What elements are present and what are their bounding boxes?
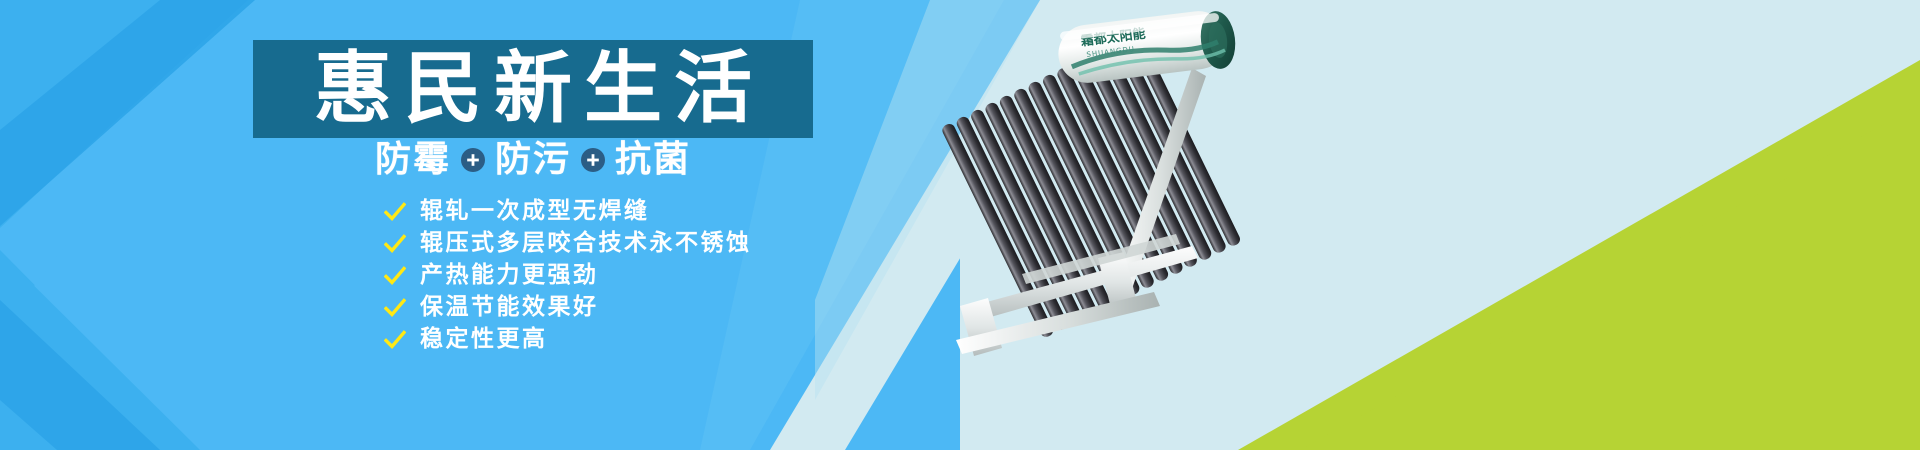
plus-icon (581, 148, 605, 172)
feature-label: 辊压式多层咬合技术永不锈蚀 (420, 232, 752, 255)
water-tank: 霜都太阳能 SHUANGDU (1055, 8, 1238, 86)
solar-water-heater-image: 霜都太阳能 SHUANGDU (930, 6, 1290, 366)
subtitle-row: 防霉 防污 抗菌 (253, 142, 813, 178)
subtitle-word-2: 防污 (495, 142, 571, 178)
subtitle-word-1: 防霉 (375, 142, 451, 178)
check-icon (384, 265, 406, 287)
feature-list: 辊轧一次成型无焊缝 辊压式多层咬合技术永不锈蚀 产热能力更强劲 (384, 196, 752, 356)
plus-icon (461, 148, 485, 172)
list-item: 产热能力更强劲 (384, 260, 752, 291)
feature-label: 辊轧一次成型无焊缝 (420, 200, 650, 223)
feature-label: 稳定性更高 (420, 328, 548, 351)
list-item: 辊轧一次成型无焊缝 (384, 196, 752, 227)
feature-label: 保温节能效果好 (420, 296, 599, 319)
check-icon (384, 201, 406, 223)
check-icon (384, 233, 406, 255)
list-item: 辊压式多层咬合技术永不锈蚀 (384, 228, 752, 259)
check-icon (384, 329, 406, 351)
promo-banner: 惠民新生活 防霉 防污 抗菌 辊轧一次成型无焊缝 (0, 0, 1920, 450)
check-icon (384, 297, 406, 319)
feature-label: 产热能力更强劲 (420, 264, 599, 287)
list-item: 保温节能效果好 (384, 292, 752, 323)
subtitle-word-3: 抗菌 (615, 142, 691, 178)
page-title: 惠民新生活 (302, 50, 764, 128)
title-bar: 惠民新生活 (253, 40, 813, 138)
list-item: 稳定性更高 (384, 324, 752, 355)
